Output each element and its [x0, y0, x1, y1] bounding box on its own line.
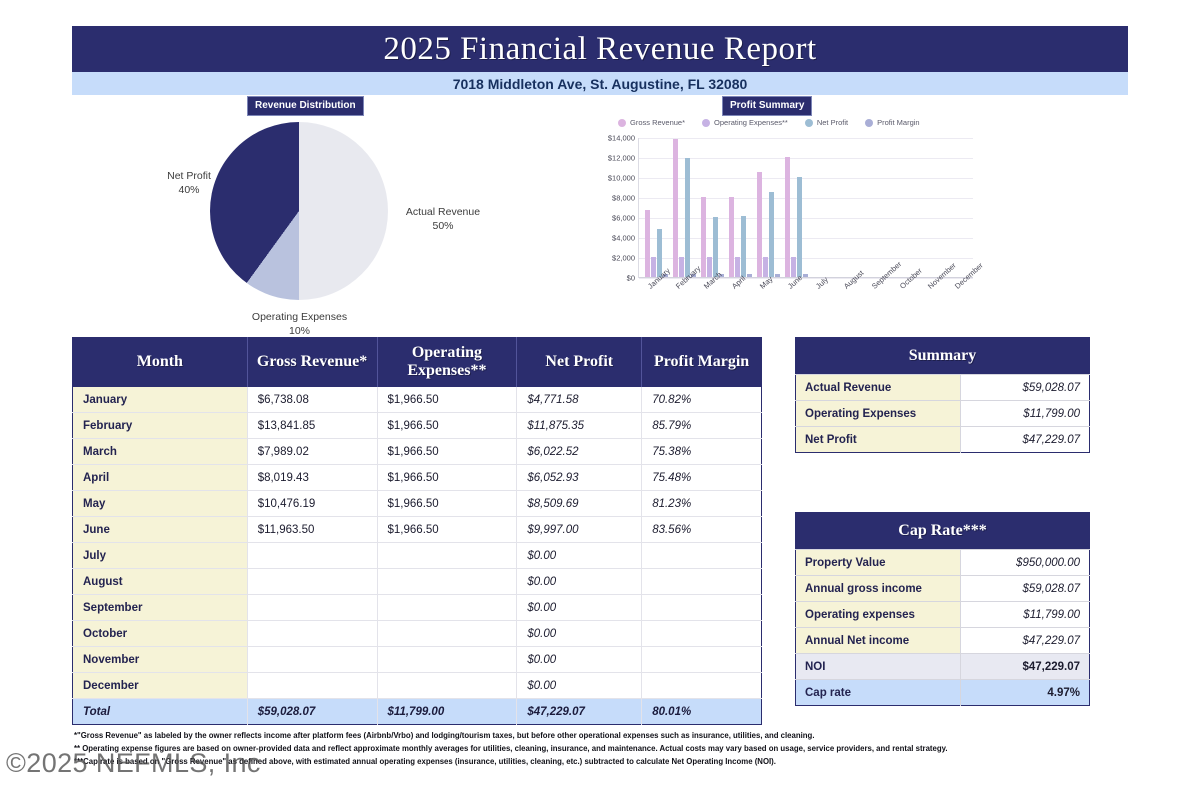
y-axis-tick: $6,000 — [612, 214, 635, 223]
revenue-distribution-chart: Net Profit 40% Actual Revenue 50% Operat… — [130, 112, 560, 332]
table-row: September$0.00 — [73, 595, 762, 621]
column-header-month: Month — [73, 338, 248, 387]
cell-ops — [377, 673, 517, 699]
cell-margin — [642, 569, 762, 595]
panel-row-label: Net Profit — [796, 427, 961, 453]
cap-rate-panel: Cap Rate*** Property Value$950,000.00Ann… — [795, 512, 1090, 706]
table-total-row: Total$59,028.07$11,799.00$47,229.0780.01… — [73, 699, 762, 725]
panel-row: Cap rate4.97% — [796, 680, 1090, 706]
bar-plot-area: $0$2,000$4,000$6,000$8,000$10,000$12,000… — [638, 138, 973, 278]
column-header-margin: Profit Margin — [642, 338, 762, 387]
bar — [701, 197, 706, 277]
summary-panel-title: Summary — [796, 338, 1090, 375]
bar-group — [729, 197, 752, 277]
cell-net: $6,052.93 — [517, 465, 642, 491]
table-row: March$7,989.02$1,966.50$6,022.5275.38% — [73, 439, 762, 465]
cell-ops: $1,966.50 — [377, 465, 517, 491]
table-row: October$0.00 — [73, 621, 762, 647]
cell-ops — [377, 647, 517, 673]
panel-row-label: Annual gross income — [796, 576, 961, 602]
panel-row-value: $59,028.07 — [961, 576, 1090, 602]
panel-row-value: 4.97% — [961, 680, 1090, 706]
panel-row-value: $47,229.07 — [961, 628, 1090, 654]
cell-month: December — [73, 673, 248, 699]
legend-item[interactable]: Operating Expenses** — [702, 118, 788, 127]
panel-row: Annual Net income$47,229.07 — [796, 628, 1090, 654]
bar — [645, 210, 650, 277]
legend-item[interactable]: Net Profit — [805, 118, 848, 127]
cell-month: November — [73, 647, 248, 673]
pie-label-net-profit: Net Profit 40% — [152, 169, 226, 197]
cell-margin: 81.23% — [642, 491, 762, 517]
cell-margin: 75.48% — [642, 465, 762, 491]
cell-gross: $7,989.02 — [247, 439, 377, 465]
cell-ops: $1,966.50 — [377, 491, 517, 517]
panel-row-value: $47,229.07 — [961, 654, 1090, 680]
cell-month: January — [73, 387, 248, 413]
table-row: December$0.00 — [73, 673, 762, 699]
cell-month: April — [73, 465, 248, 491]
total-ops: $11,799.00 — [377, 699, 517, 725]
legend-swatch-icon — [618, 119, 626, 127]
cell-margin — [642, 595, 762, 621]
panel-row-label: NOI — [796, 654, 961, 680]
cell-gross — [247, 595, 377, 621]
table-row: July$0.00 — [73, 543, 762, 569]
panel-row: Net Profit$47,229.07 — [796, 427, 1090, 453]
cell-gross: $6,738.08 — [247, 387, 377, 413]
cell-month: September — [73, 595, 248, 621]
cell-gross — [247, 543, 377, 569]
table-row: August$0.00 — [73, 569, 762, 595]
pie-label-operating-expenses: Operating Expenses 10% — [212, 310, 387, 338]
footnote: *"Gross Revenue" as labeled by the owner… — [74, 730, 1130, 743]
bar — [797, 177, 802, 277]
profit-summary-chart: Gross Revenue*Operating Expenses**Net Pr… — [586, 112, 986, 317]
cell-ops — [377, 569, 517, 595]
table-row: June$11,963.50$1,966.50$9,997.0083.56% — [73, 517, 762, 543]
bar — [769, 192, 774, 277]
legend-item[interactable]: Gross Revenue* — [618, 118, 685, 127]
cell-ops: $1,966.50 — [377, 413, 517, 439]
cell-net: $11,875.35 — [517, 413, 642, 439]
y-axis-tick: $10,000 — [608, 174, 635, 183]
panel-row-value: $59,028.07 — [961, 375, 1090, 401]
bar-group — [757, 172, 780, 277]
legend-swatch-icon — [805, 119, 813, 127]
cell-gross: $8,019.43 — [247, 465, 377, 491]
cell-net: $6,022.52 — [517, 439, 642, 465]
y-axis-tick: $0 — [627, 274, 635, 283]
cell-month: August — [73, 569, 248, 595]
cell-net: $0.00 — [517, 621, 642, 647]
financial-report-page: 2025 Financial Revenue Report 7018 Middl… — [0, 0, 1200, 800]
chart-legend: Gross Revenue*Operating Expenses**Net Pr… — [618, 118, 920, 127]
report-title-bar: 2025 Financial Revenue Report — [72, 26, 1128, 72]
total-net: $47,229.07 — [517, 699, 642, 725]
legend-label: Profit Margin — [877, 118, 920, 127]
property-address: 7018 Middleton Ave, St. Augustine, FL 32… — [453, 76, 748, 92]
cell-month: June — [73, 517, 248, 543]
cell-margin — [642, 543, 762, 569]
cell-month: May — [73, 491, 248, 517]
panel-row-value: $11,799.00 — [961, 401, 1090, 427]
cell-margin — [642, 621, 762, 647]
column-header-net: Net Profit — [517, 338, 642, 387]
legend-swatch-icon — [865, 119, 873, 127]
page-title: 2025 Financial Revenue Report — [383, 31, 816, 68]
cell-margin: 70.82% — [642, 387, 762, 413]
panel-row-value: $950,000.00 — [961, 550, 1090, 576]
cell-month: March — [73, 439, 248, 465]
cell-ops: $1,966.50 — [377, 517, 517, 543]
cell-gross — [247, 647, 377, 673]
bar — [685, 158, 690, 277]
cell-net: $0.00 — [517, 543, 642, 569]
y-axis-tick: $2,000 — [612, 254, 635, 263]
legend-swatch-icon — [702, 119, 710, 127]
panel-row-label: Operating Expenses — [796, 401, 961, 427]
panel-row-label: Annual Net income — [796, 628, 961, 654]
bar-group — [673, 139, 696, 277]
cell-gross — [247, 621, 377, 647]
cell-net: $0.00 — [517, 595, 642, 621]
bar-group — [785, 157, 808, 277]
panel-row-label: Cap rate — [796, 680, 961, 706]
cell-month: February — [73, 413, 248, 439]
cell-gross: $10,476.19 — [247, 491, 377, 517]
bar — [785, 157, 790, 277]
panel-row: Actual Revenue$59,028.07 — [796, 375, 1090, 401]
cell-gross — [247, 673, 377, 699]
bar — [803, 274, 808, 277]
monthly-financials-table: Month Gross Revenue* Operating Expenses*… — [72, 337, 762, 725]
total-label: Total — [73, 699, 248, 725]
table-row: November$0.00 — [73, 647, 762, 673]
y-axis-tick: $4,000 — [612, 234, 635, 243]
mls-watermark: ©2025 NEFMLS, Inc — [6, 748, 261, 779]
table-row: January$6,738.08$1,966.50$4,771.5870.82% — [73, 387, 762, 413]
panel-row-label: Property Value — [796, 550, 961, 576]
cell-net: $0.00 — [517, 569, 642, 595]
cell-net: $0.00 — [517, 673, 642, 699]
panel-row-value: $47,229.07 — [961, 427, 1090, 453]
cell-ops: $1,966.50 — [377, 439, 517, 465]
cell-margin: 75.38% — [642, 439, 762, 465]
cell-month: July — [73, 543, 248, 569]
cell-gross: $11,963.50 — [247, 517, 377, 543]
cap-rate-panel-title: Cap Rate*** — [796, 513, 1090, 550]
total-margin: 80.01% — [642, 699, 762, 725]
cell-net: $9,997.00 — [517, 517, 642, 543]
cell-ops — [377, 543, 517, 569]
panel-row: NOI$47,229.07 — [796, 654, 1090, 680]
cell-ops — [377, 621, 517, 647]
bar — [757, 172, 762, 277]
pie-graphic — [210, 122, 388, 300]
cell-net: $4,771.58 — [517, 387, 642, 413]
legend-label: Operating Expenses** — [714, 118, 788, 127]
cell-margin — [642, 673, 762, 699]
table-row: February$13,841.85$1,966.50$11,875.3585.… — [73, 413, 762, 439]
pie-label-actual-revenue: Actual Revenue 50% — [393, 205, 493, 233]
report-subtitle-bar: 7018 Middleton Ave, St. Augustine, FL 32… — [72, 72, 1128, 95]
bar — [729, 197, 734, 277]
y-axis-tick: $8,000 — [612, 194, 635, 203]
column-header-gross: Gross Revenue* — [247, 338, 377, 387]
panel-row: Property Value$950,000.00 — [796, 550, 1090, 576]
panel-row: Operating Expenses$11,799.00 — [796, 401, 1090, 427]
table-header-row: Month Gross Revenue* Operating Expenses*… — [73, 338, 762, 387]
bar — [741, 216, 746, 277]
panel-row: Annual gross income$59,028.07 — [796, 576, 1090, 602]
panel-row: Operating expenses$11,799.00 — [796, 602, 1090, 628]
legend-item[interactable]: Profit Margin — [865, 118, 920, 127]
cell-net: $8,509.69 — [517, 491, 642, 517]
bar — [747, 274, 752, 277]
bar-group — [701, 197, 724, 277]
y-axis-tick: $12,000 — [608, 154, 635, 163]
cell-net: $0.00 — [517, 647, 642, 673]
legend-label: Net Profit — [817, 118, 848, 127]
cell-gross: $13,841.85 — [247, 413, 377, 439]
cell-margin: 85.79% — [642, 413, 762, 439]
cell-ops: $1,966.50 — [377, 387, 517, 413]
legend-label: Gross Revenue* — [630, 118, 685, 127]
summary-panel: Summary Actual Revenue$59,028.07Operatin… — [795, 337, 1090, 453]
bar — [775, 274, 780, 277]
bar — [673, 139, 678, 277]
total-gross: $59,028.07 — [247, 699, 377, 725]
table-row: May$10,476.19$1,966.50$8,509.6981.23% — [73, 491, 762, 517]
cell-margin — [642, 647, 762, 673]
bar — [713, 217, 718, 277]
y-axis-tick: $14,000 — [608, 134, 635, 143]
cell-ops — [377, 595, 517, 621]
cell-month: October — [73, 621, 248, 647]
table-row: April$8,019.43$1,966.50$6,052.9375.48% — [73, 465, 762, 491]
panel-row-value: $11,799.00 — [961, 602, 1090, 628]
panel-row-label: Actual Revenue — [796, 375, 961, 401]
column-header-ops: Operating Expenses** — [377, 338, 517, 387]
cell-gross — [247, 569, 377, 595]
cell-margin: 83.56% — [642, 517, 762, 543]
panel-row-label: Operating expenses — [796, 602, 961, 628]
